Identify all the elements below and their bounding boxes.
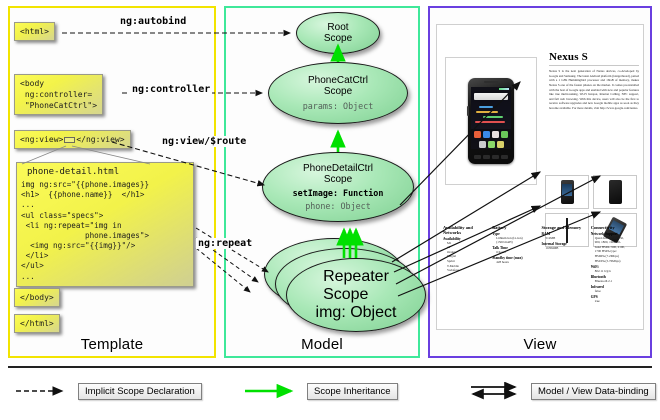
spec-column-header: Connectivity — [591, 225, 637, 230]
thumbnail-item[interactable] — [545, 175, 589, 209]
spec-group-values: 6 hours — [492, 250, 538, 255]
spec-column-header: Storage and Memory — [542, 225, 588, 230]
scope-phonedetailctrl-name: PhoneDetailCtrlScope — [303, 163, 373, 185]
phone-app-icon — [483, 131, 490, 138]
spec-group-values: Quad-band GSM: 850, 900, 1800, 1900 Tri-… — [591, 236, 637, 264]
scope-repeater-name: RepeaterScope — [323, 268, 389, 304]
connector-label-ng-view-route: ng:view/$route — [160, 136, 248, 147]
phone-device-illustration — [468, 78, 514, 164]
code-box-html-open: <html> — [14, 22, 55, 41]
phone-wallpaper — [471, 102, 511, 127]
article-body-text: Nexus S is the next generation of Nexus … — [549, 69, 639, 111]
legend-divider — [8, 366, 652, 368]
article-block: Nexus S Nexus S is the next generation o… — [549, 51, 639, 111]
code-box-body-close: </body> — [14, 288, 60, 307]
phone-dock-icon — [488, 141, 495, 148]
scope-repeater: RepeaterScope img: Object — [286, 258, 426, 332]
article-divider — [549, 65, 639, 66]
phone-app-icon — [492, 131, 499, 138]
code-note-body: img ng:src="{{phone.images}} <h1> {{phon… — [21, 180, 189, 282]
spec-group-values: 428 hours — [492, 260, 538, 265]
spec-column: Connectivity Network Support Quad-band G… — [591, 225, 637, 304]
spec-column: Availability and Networks Availability M… — [443, 225, 489, 304]
connector-label-ng-controller: ng:controller — [130, 84, 212, 95]
spec-group-values: 802.11 b/g/n — [591, 269, 637, 274]
scope-phonedetailctrl-attr-phone: phone: Object — [305, 201, 371, 211]
code-box-ngview: <ng:view></ng:view> — [14, 130, 131, 149]
code-box-body-open: <body ng:controller= "PhoneCatCtrl"> — [14, 74, 103, 115]
spec-column: Storage and Memory RAM 512MB Internal St… — [542, 225, 588, 304]
spec-group-values: 512MB — [542, 236, 588, 241]
legend-icon-dashed-arrow — [14, 382, 72, 400]
spec-group-values: M1 o2 Orange Singtel Sprint T-Mobile Vod… — [443, 241, 489, 273]
ngview-open-tag: <ng:view> — [20, 135, 63, 144]
phone-hero-image-frame — [445, 57, 537, 185]
spec-column-header: Availability and Networks — [443, 225, 489, 235]
phone-app-icon — [474, 131, 481, 138]
scope-phonecatctrl-attr-params: params: Object — [303, 101, 374, 111]
ngview-close-tag: </ng:view> — [76, 135, 124, 144]
scope-phonedetailctrl-attr-setimage: setImage: Function — [293, 188, 384, 198]
phone-dock-icon — [497, 141, 504, 148]
code-note-phone-detail: phone-detail.html img ng:src="{{phone.im… — [16, 162, 194, 287]
phone-earpiece — [484, 81, 498, 83]
scope-phonedetailctrl: PhoneDetailCtrlScope setImage: Function … — [262, 152, 414, 222]
phone-dock-icon-row — [471, 138, 511, 148]
diagram-root: Template Model View <html> <body ng:cont… — [0, 0, 660, 420]
spec-group-values: true — [591, 299, 637, 304]
spec-column-header: Battery — [492, 225, 538, 230]
rendered-view-page: Nexus S Nexus S is the next generation o… — [436, 24, 644, 330]
spec-group-values: Bluetooth 2.1 — [591, 279, 637, 284]
ngview-slot-icon — [64, 137, 75, 143]
legend-entry-scope-inheritance: Scope Inheritance — [243, 382, 398, 400]
connector-label-ng-autobind: ng:autobind — [118, 16, 188, 27]
phone-search-widget — [474, 93, 508, 100]
phone-dock-icon — [479, 141, 486, 148]
phone-app-icon — [501, 131, 508, 138]
scope-root-name: RootScope — [324, 22, 352, 44]
legend-icon-green-arrow — [243, 382, 301, 400]
panel-model-label: Model — [226, 336, 418, 353]
phone-app-dock — [471, 129, 511, 149]
legend-label-implicit-scope: Implicit Scope Declaration — [78, 383, 202, 400]
scope-phonecatctrl-name: PhoneCatCtrlScope — [308, 75, 368, 97]
thumbnail-item[interactable] — [593, 175, 637, 209]
legend-label-data-binding: Model / View Data-binding — [531, 383, 656, 400]
spec-table: Availability and Networks Availability M… — [443, 225, 637, 304]
connector-label-ng-repeat: ng:repeat — [196, 238, 254, 249]
legend-icon-double-arrow — [467, 382, 525, 400]
scope-phonecatctrl: PhoneCatCtrlScope params: Object — [268, 62, 408, 124]
phone-volume-button — [467, 106, 469, 116]
phone-app-icon-row — [471, 129, 511, 138]
scope-root: RootScope — [296, 12, 380, 54]
spec-group-values: false — [591, 289, 637, 294]
spec-group-values: 16384MB — [542, 246, 588, 251]
panel-template-label: Template — [10, 336, 214, 353]
panel-view-label: View — [430, 336, 650, 353]
spec-column: Battery Type Lithium Ion (Li-Ion) (1500 … — [492, 225, 538, 304]
legend-label-scope-inheritance: Scope Inheritance — [307, 383, 398, 400]
article-title: Nexus S — [549, 51, 639, 63]
spec-group-values: Lithium Ion (Li-Ion) (1500 mAH) — [492, 236, 538, 245]
code-note-title: phone-detail.html — [21, 165, 189, 180]
phone-status-bar — [471, 87, 511, 91]
phone-soft-keys — [471, 153, 511, 160]
legend-entry-data-binding: Model / View Data-binding — [467, 382, 656, 400]
code-box-html-close: </html> — [14, 314, 60, 333]
phone-screen — [471, 87, 511, 149]
legend-entry-implicit-scope: Implicit Scope Declaration — [14, 382, 202, 400]
scope-repeater-attr-img: img: Object — [316, 304, 397, 322]
